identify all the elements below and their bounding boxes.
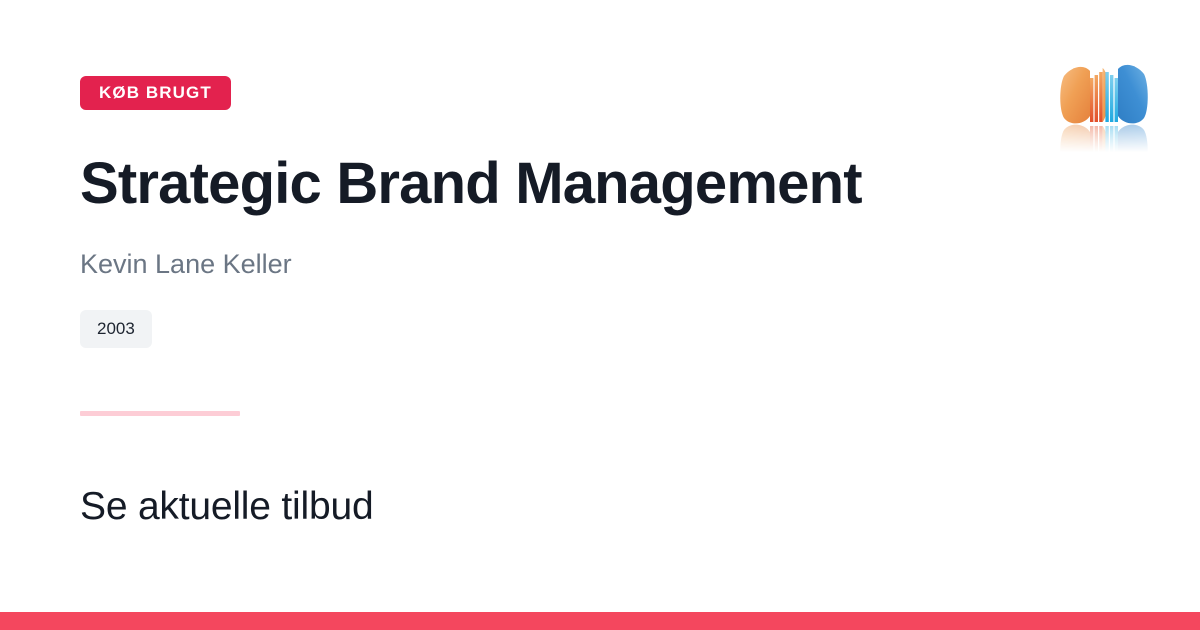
section-divider [80, 411, 240, 416]
status-badge-buy-used: KØB BRUGT [80, 76, 231, 110]
bottom-accent-bar [0, 612, 1200, 630]
publication-year-chip: 2003 [80, 310, 152, 348]
brand-butterfly-logo-icon [1050, 48, 1158, 152]
book-offer-card: KØB BRUGT [0, 0, 1200, 630]
cta-see-current-offers: Se aktuelle tilbud [80, 484, 373, 531]
book-author: Kevin Lane Keller [80, 248, 292, 280]
page-title: Strategic Brand Management [80, 152, 862, 217]
